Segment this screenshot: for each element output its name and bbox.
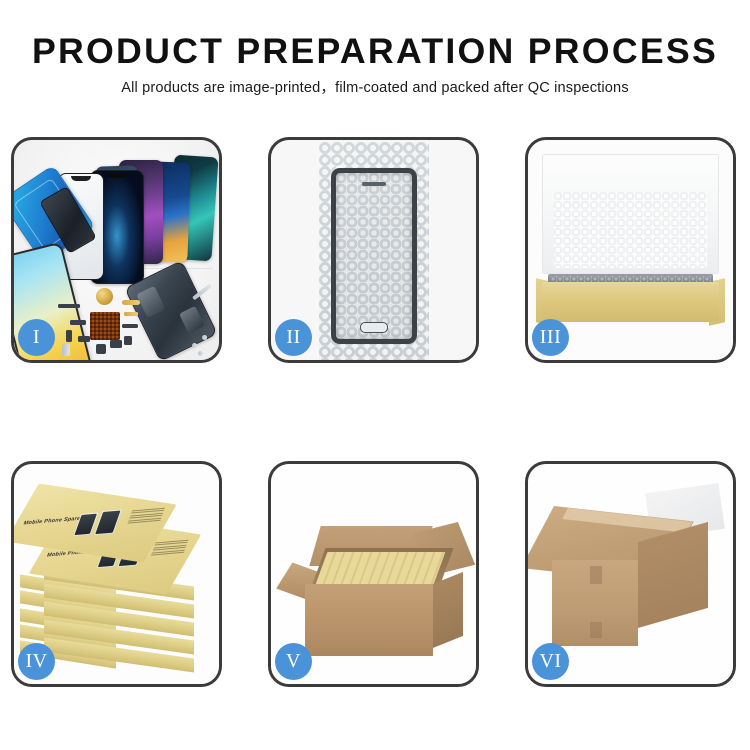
screw-3 [198, 351, 203, 356]
home-button [360, 322, 388, 333]
step-panel-1[interactable]: I [11, 137, 222, 363]
step-badge-3: III [532, 319, 569, 356]
step-panel-5[interactable]: V [268, 461, 479, 687]
step-panel-2[interactable]: II [268, 137, 479, 363]
page-subtitle: All products are image-printed，film-coat… [0, 81, 750, 96]
screw-2 [202, 335, 207, 340]
page-title: PRODUCT PREPARATION PROCESS [0, 34, 750, 69]
step-badge-4: IV [18, 643, 55, 680]
earpiece-slot [362, 182, 386, 186]
step-panel-3[interactable]: III [525, 137, 736, 363]
box-spec-lines-1 [128, 508, 165, 524]
part-sim-tray [62, 344, 70, 356]
step-badge-5: V [275, 643, 312, 680]
box-spec-lines-2 [151, 540, 188, 556]
step-panel-4[interactable]: Mobile Phone Spare Parts Mobile Phone Sp… [11, 461, 222, 687]
screw-1 [192, 343, 197, 348]
part-ribbon [122, 324, 138, 328]
copper-grid-part [90, 312, 120, 340]
part-connector [70, 320, 86, 325]
carton-front-wall [305, 584, 433, 656]
part-gold-connector [124, 312, 138, 316]
box-front-wall [542, 282, 719, 322]
step-badge-2: II [275, 319, 312, 356]
carton-side-wall [433, 572, 463, 648]
step-panel-6[interactable]: VI [525, 461, 736, 687]
gold-coil-part [96, 288, 113, 305]
carton-seam-bottom [590, 622, 602, 638]
part-button [124, 336, 132, 345]
page-header: PRODUCT PREPARATION PROCESS All products… [0, 0, 750, 96]
step-badge-6: VI [532, 643, 569, 680]
bubble-wrap-sheet [319, 142, 429, 360]
part-strip [58, 304, 80, 308]
part-camera [96, 344, 106, 354]
carton-seam-top [590, 566, 602, 584]
part-clip [78, 336, 90, 342]
foam-padding [554, 192, 707, 268]
screen-assembly [331, 168, 417, 344]
part-gold-flex [122, 300, 140, 305]
yellow-boxes-inside [315, 552, 445, 586]
part-speaker [110, 340, 122, 348]
step-badge-1: I [18, 319, 55, 356]
part-bracket [66, 330, 72, 342]
process-steps-grid: I II III [11, 137, 739, 687]
